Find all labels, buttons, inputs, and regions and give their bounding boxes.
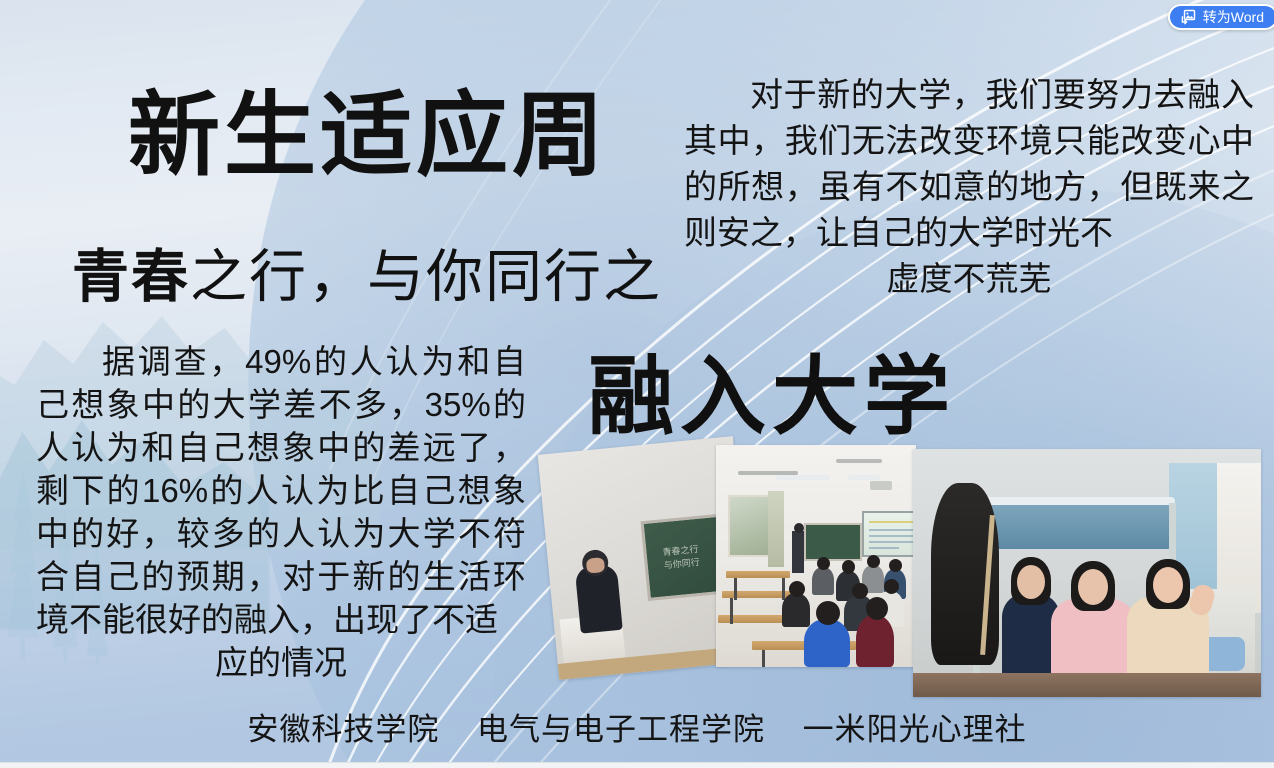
dorm-foreground: [913, 673, 1261, 697]
image-to-word-icon: [1180, 9, 1196, 25]
slide-title: 新生适应周: [128, 88, 608, 185]
convert-to-word-button[interactable]: 转为Word: [1168, 4, 1274, 30]
footer-org-college: 电气与电子工程学院: [477, 712, 765, 747]
presentation-slide: 新生适应周 青春之行，与你同行之 对于新的大学，我们要努力去融入其中，我们无法改…: [0, 0, 1274, 768]
subtitle-emphasis: 青春: [72, 245, 190, 309]
ceiling-light: [776, 475, 830, 480]
classroom-student: [804, 619, 850, 667]
classroom-student: [782, 593, 810, 627]
footer-organizations: 安徽科技学院 电气与电子工程学院 一米阳光心理社: [0, 704, 1274, 749]
convert-to-word-label: 转为Word: [1203, 7, 1264, 27]
paragraph-right-lastline: 虚度不荒芜: [684, 256, 1254, 302]
classroom-curtain: [768, 491, 784, 567]
classroom-student: [812, 567, 834, 595]
footer-org-club: 一米阳光心理社: [803, 712, 1027, 747]
classroom-desk: [726, 571, 790, 578]
paragraph-left: 据调查，49%的人认为和自己想象中的大学差不多，35%的人认为和自己想象中的差远…: [36, 340, 526, 684]
projector: [870, 481, 892, 490]
page-bottom-edge: [0, 762, 1274, 768]
classroom-photo: [716, 445, 916, 667]
projection-screen: [862, 511, 916, 557]
blackboard-chalk-text: 青春之行与你同行: [662, 543, 700, 572]
ceiling-light: [848, 475, 880, 480]
classroom-teacher-head: [794, 523, 804, 533]
ceiling-fan: [738, 471, 798, 475]
classroom-student: [856, 615, 894, 667]
slide-subtitle: 青春之行，与你同行之: [72, 246, 662, 309]
subtitle-rest: 之行，与你同行之: [190, 245, 662, 309]
tree-silhouette: [6, 470, 40, 660]
paragraph-right-body: 对于新的大学，我们要努力去融入其中，我们无法改变环境只能改变心中的所想，虽有不如…: [684, 76, 1254, 251]
dorm-bunk-bed: [975, 503, 1175, 549]
classroom-blackboard: [804, 523, 862, 561]
paragraph-left-body: 据调查，49%的人认为和自己想象中的大学差不多，35%的人认为和自己想象中的差远…: [36, 343, 526, 638]
paragraph-right: 对于新的大学，我们要努力去融入其中，我们无法改变环境只能改变心中的所想，虽有不如…: [684, 72, 1254, 302]
footer-org-university: 安徽科技学院: [247, 712, 439, 747]
dorm-photo: [913, 449, 1261, 697]
dorm-bed-rail: [975, 497, 1175, 505]
ceiling-fan: [836, 459, 882, 463]
slide-headline: 融入大学: [588, 352, 956, 442]
paragraph-left-lastline: 应的情况: [36, 641, 526, 684]
classroom-teacher-body: [792, 531, 804, 573]
